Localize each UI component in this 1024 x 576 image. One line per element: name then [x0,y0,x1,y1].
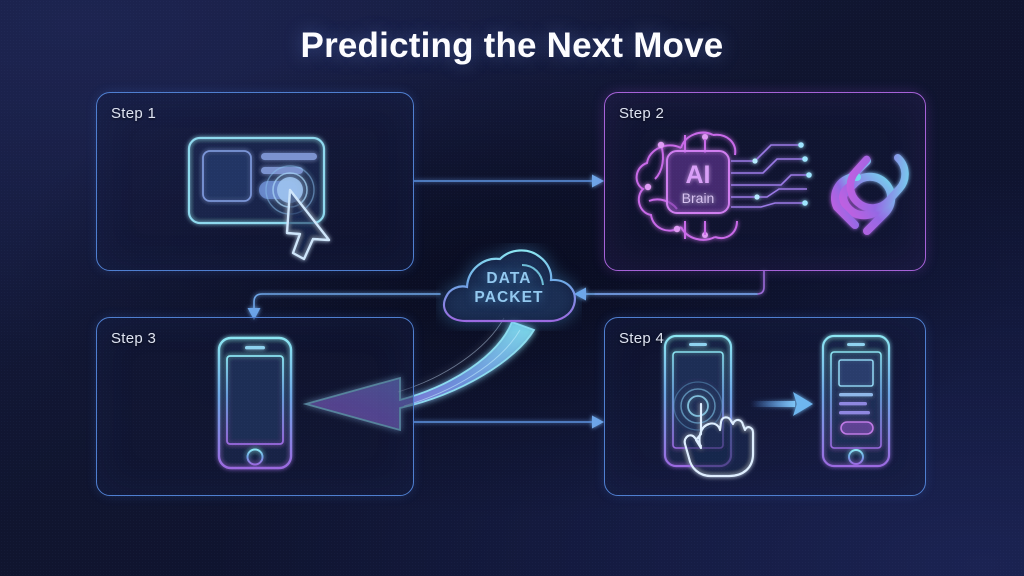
cloud-label-line1: DATA [436,269,582,288]
ai-chip-title: AI [686,161,711,189]
ai-chip-subtitle: Brain [682,190,715,206]
step-2-artwork: AI Brain [605,93,925,270]
step-2-panel[interactable]: Step 2 [604,92,926,271]
step-3-panel[interactable]: Step 3 [96,317,414,496]
right-arrow-icon [751,392,813,416]
connector-step3-to-step4 [414,416,604,429]
cloud-label: DATA PACKET [436,269,582,307]
data-packet-cloud: DATA PACKET [436,243,582,331]
step-3-artwork [97,318,413,495]
circuit-traces-icon [731,142,812,207]
infographic-canvas: Predicting the Next Move [0,0,1024,576]
connector-step2-to-cloud [574,271,764,301]
cloud-label-line2: PACKET [436,288,582,307]
step-4-panel[interactable]: Step 4 [604,317,926,496]
step-1-panel[interactable]: Step 1 [96,92,414,271]
text-line-icon [261,153,317,160]
connector-step1-to-step2 [414,175,604,188]
smartphone-icon [219,338,291,468]
smartphone-loaded-icon [823,336,889,466]
step-1-artwork [97,93,413,270]
image-placeholder-icon [203,151,251,201]
step-4-artwork [605,318,925,495]
